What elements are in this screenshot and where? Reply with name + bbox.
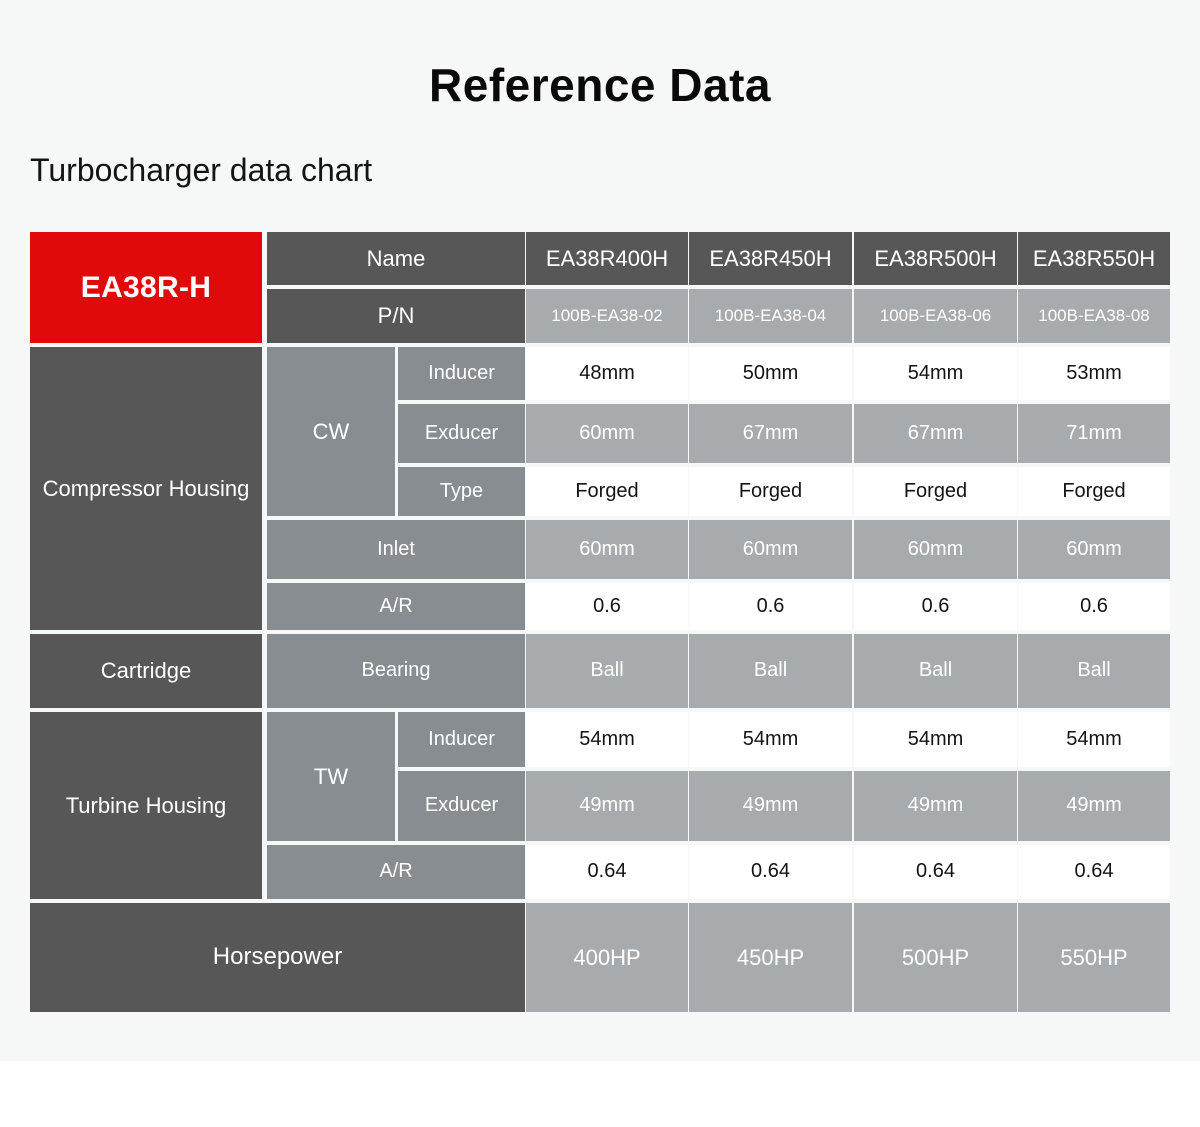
cell-compressor-ar-2: 0.6 <box>689 583 852 630</box>
group-label-compressor-housing: Compressor Housing <box>30 347 262 630</box>
subgroup-label-tw: TW <box>267 712 395 841</box>
cell-tw-inducer-1: 54mm <box>526 712 688 767</box>
cell-turbine-ar-4: 0.64 <box>1018 845 1170 899</box>
cell-inlet-3: 60mm <box>854 520 1017 579</box>
cell-cw-type-1: Forged <box>526 467 688 516</box>
column-header-pn-1: 100B-EA38-02 <box>526 289 688 343</box>
cell-inlet-4: 60mm <box>1018 520 1170 579</box>
row-label-tw-inducer: Inducer <box>398 712 525 767</box>
cell-cw-inducer-3: 54mm <box>854 347 1017 400</box>
cell-cw-exducer-3: 67mm <box>854 404 1017 463</box>
cell-turbine-ar-2: 0.64 <box>689 845 852 899</box>
cell-tw-inducer-2: 54mm <box>689 712 852 767</box>
row-header-pn: P/N <box>267 289 525 343</box>
cell-tw-exducer-2: 49mm <box>689 771 852 841</box>
row-label-horsepower: Horsepower <box>30 903 525 1012</box>
row-label-cw-exducer: Exducer <box>398 404 525 463</box>
column-header-name-4: EA38R550H <box>1018 232 1170 285</box>
cell-tw-exducer-3: 49mm <box>854 771 1017 841</box>
cell-inlet-2: 60mm <box>689 520 852 579</box>
row-label-cw-type: Type <box>398 467 525 516</box>
brand-badge: EA38R-H <box>30 232 262 343</box>
cell-compressor-ar-1: 0.6 <box>526 583 688 630</box>
cell-tw-exducer-1: 49mm <box>526 771 688 841</box>
subgroup-label-cw: CW <box>267 347 395 516</box>
column-header-name-2: EA38R450H <box>689 232 852 285</box>
column-header-name-3: EA38R500H <box>854 232 1017 285</box>
cell-bearing-2: Ball <box>689 634 852 708</box>
column-header-pn-3: 100B-EA38-06 <box>854 289 1017 343</box>
cell-horsepower-2: 450HP <box>689 903 852 1012</box>
cell-cw-exducer-1: 60mm <box>526 404 688 463</box>
row-header-name: Name <box>267 232 525 285</box>
cell-inlet-1: 60mm <box>526 520 688 579</box>
column-header-pn-4: 100B-EA38-08 <box>1018 289 1170 343</box>
row-label-turbine-ar: A/R <box>267 845 525 899</box>
cell-cw-type-2: Forged <box>689 467 852 516</box>
group-label-turbine-housing: Turbine Housing <box>30 712 262 899</box>
page-title: Reference Data <box>0 58 1200 112</box>
cell-horsepower-1: 400HP <box>526 903 688 1012</box>
row-label-tw-exducer: Exducer <box>398 771 525 841</box>
cell-bearing-4: Ball <box>1018 634 1170 708</box>
cell-compressor-ar-4: 0.6 <box>1018 583 1170 630</box>
row-label-inlet: Inlet <box>267 520 525 579</box>
cell-cw-inducer-1: 48mm <box>526 347 688 400</box>
cell-horsepower-4: 550HP <box>1018 903 1170 1012</box>
cell-turbine-ar-3: 0.64 <box>854 845 1017 899</box>
cell-cw-type-3: Forged <box>854 467 1017 516</box>
page-subtitle: Turbocharger data chart <box>30 152 372 189</box>
cell-cw-exducer-4: 71mm <box>1018 404 1170 463</box>
cell-bearing-1: Ball <box>526 634 688 708</box>
row-label-compressor-ar: A/R <box>267 583 525 630</box>
cell-tw-inducer-3: 54mm <box>854 712 1017 767</box>
turbocharger-data-table: EA38R-H Name P/N EA38R400H EA38R450H EA3… <box>30 232 1170 1012</box>
cell-cw-exducer-2: 67mm <box>689 404 852 463</box>
cell-tw-inducer-4: 54mm <box>1018 712 1170 767</box>
cell-cw-type-4: Forged <box>1018 467 1170 516</box>
row-label-cw-inducer: Inducer <box>398 347 525 400</box>
cell-bearing-3: Ball <box>854 634 1017 708</box>
cell-compressor-ar-3: 0.6 <box>854 583 1017 630</box>
cell-turbine-ar-1: 0.64 <box>526 845 688 899</box>
cell-horsepower-3: 500HP <box>854 903 1017 1012</box>
column-header-name-1: EA38R400H <box>526 232 688 285</box>
group-label-cartridge: Cartridge <box>30 634 262 708</box>
cell-cw-inducer-4: 53mm <box>1018 347 1170 400</box>
column-header-pn-2: 100B-EA38-04 <box>689 289 852 343</box>
cell-cw-inducer-2: 50mm <box>689 347 852 400</box>
page-root: Reference Data Turbocharger data chart E… <box>0 0 1200 1127</box>
row-label-bearing: Bearing <box>267 634 525 708</box>
cell-tw-exducer-4: 49mm <box>1018 771 1170 841</box>
